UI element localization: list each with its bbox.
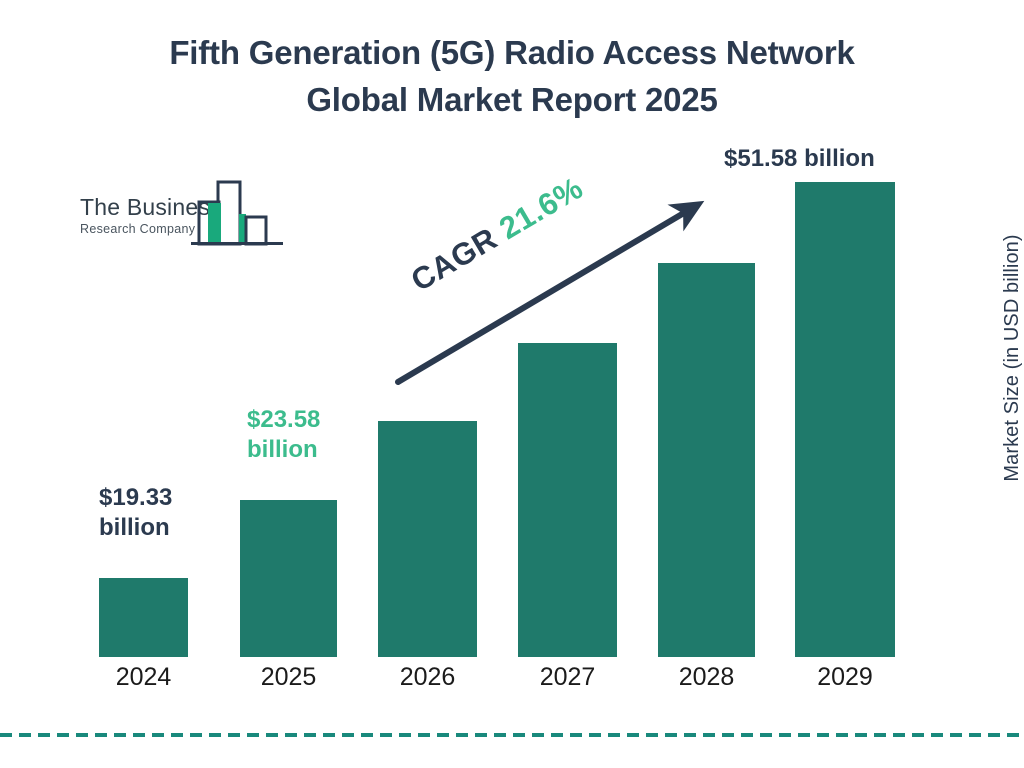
growth-arrow-icon [0, 0, 1024, 768]
chart-canvas: Fifth Generation (5G) Radio Access Netwo… [0, 0, 1024, 768]
y-axis-title: Market Size (in USD billion) [992, 208, 1024, 508]
footer-divider [0, 733, 1024, 737]
